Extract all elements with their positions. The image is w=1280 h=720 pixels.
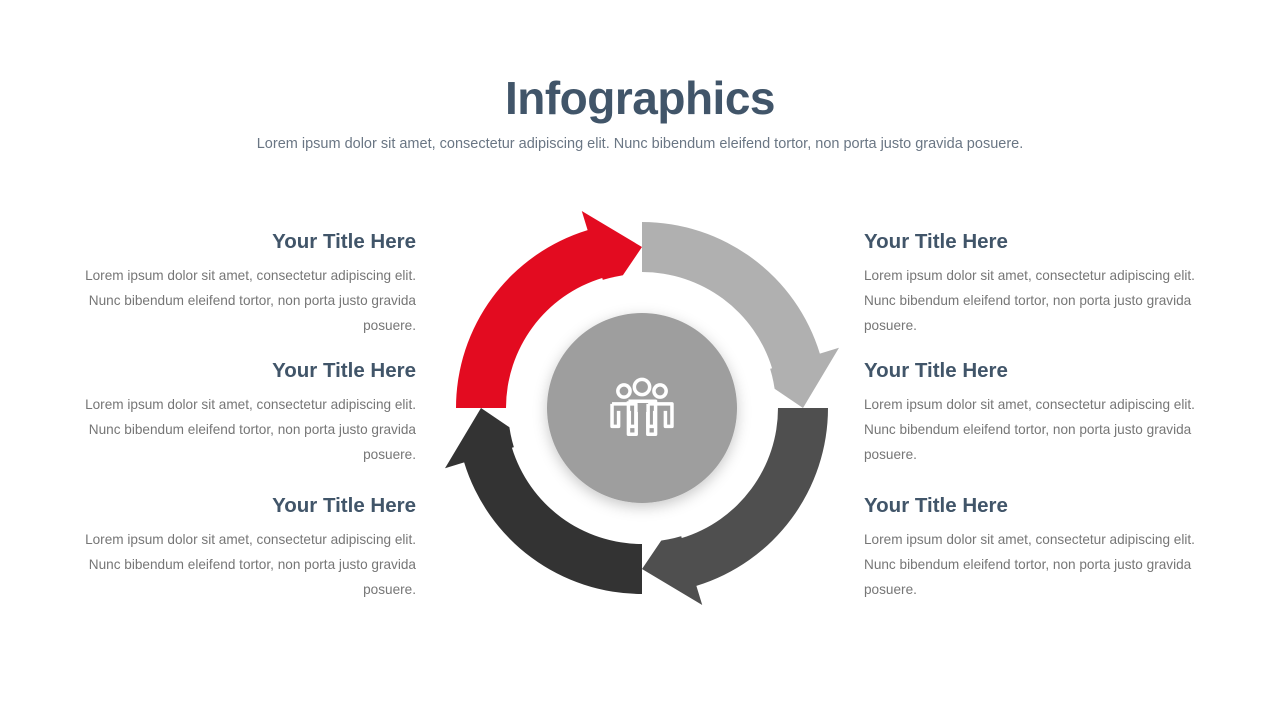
center-circle[interactable] xyxy=(547,313,737,503)
cycle-diagram xyxy=(430,196,854,620)
info-block-right-2[interactable]: Your Title Here Lorem ipsum dolor sit am… xyxy=(864,359,1230,467)
info-block-body: Lorem ipsum dolor sit amet, consectetur … xyxy=(864,263,1230,339)
info-block-title: Your Title Here xyxy=(50,230,416,255)
info-block-title: Your Title Here xyxy=(864,494,1230,519)
info-block-body: Lorem ipsum dolor sit amet, consectetur … xyxy=(50,527,416,603)
info-block-title: Your Title Here xyxy=(50,494,416,519)
info-block-body: Lorem ipsum dolor sit amet, consectetur … xyxy=(864,392,1230,468)
info-block-title: Your Title Here xyxy=(864,230,1230,255)
info-block-left-2[interactable]: Your Title Here Lorem ipsum dolor sit am… xyxy=(50,359,416,467)
header: Infographics Lorem ipsum dolor sit amet,… xyxy=(0,74,1280,155)
info-block-title: Your Title Here xyxy=(50,359,416,384)
info-block-title: Your Title Here xyxy=(864,359,1230,384)
page-subtitle: Lorem ipsum dolor sit amet, consectetur … xyxy=(0,134,1280,154)
info-block-left-3[interactable]: Your Title Here Lorem ipsum dolor sit am… xyxy=(50,494,416,602)
info-block-body: Lorem ipsum dolor sit amet, consectetur … xyxy=(50,263,416,339)
info-block-body: Lorem ipsum dolor sit amet, consectetur … xyxy=(864,527,1230,603)
info-block-body: Lorem ipsum dolor sit amet, consectetur … xyxy=(50,392,416,468)
info-block-right-3[interactable]: Your Title Here Lorem ipsum dolor sit am… xyxy=(864,494,1230,602)
info-block-left-1[interactable]: Your Title Here Lorem ipsum dolor sit am… xyxy=(50,230,416,338)
page-title: Infographics xyxy=(0,74,1280,122)
info-block-right-1[interactable]: Your Title Here Lorem ipsum dolor sit am… xyxy=(864,230,1230,338)
